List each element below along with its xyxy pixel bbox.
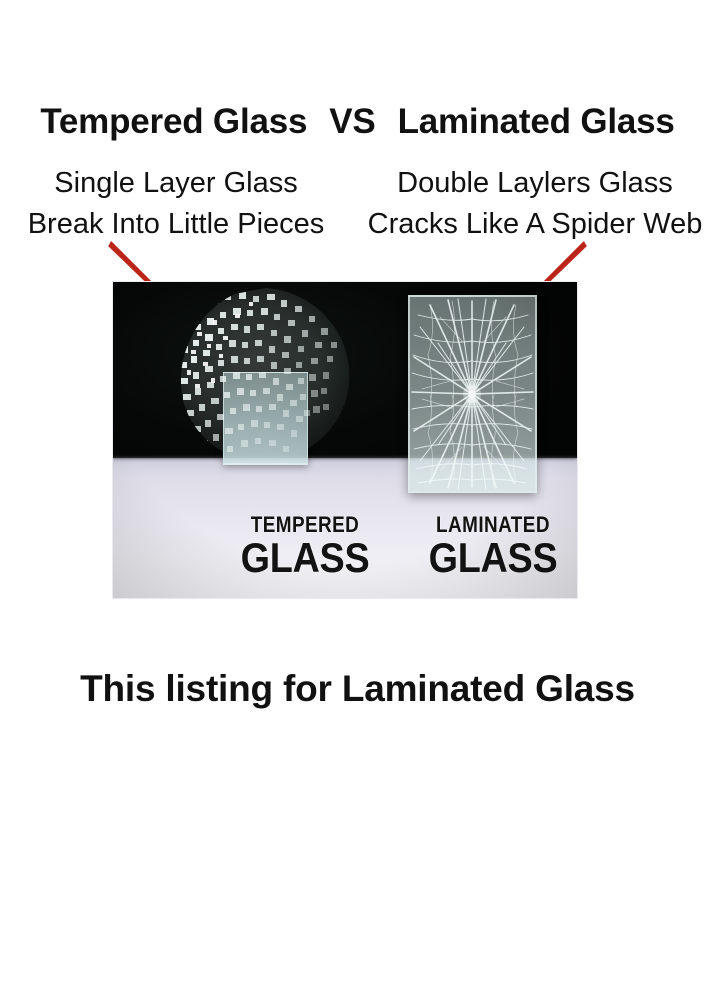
laminated-spiderweb-crack-pattern [410,297,535,491]
photo-label-tempered: TEMPERED GLASS [225,514,385,579]
photo-label-laminated: LAMINATED GLASS [413,514,573,579]
tempered-shatter-pattern [173,284,358,469]
headline-comparison-title: Tempered GlassVSLaminated Glass [0,102,715,142]
headline-right-product: Laminated Glass [398,102,675,142]
caption-tempered-line2: Break Into Little Pieces [6,204,346,245]
photo-label-tempered-bottom: GLASS [233,537,377,579]
laminated-glass-panel [408,295,537,493]
photo-label-laminated-bottom: GLASS [421,537,565,579]
caption-row: Single Layer Glass Break Into Little Pie… [0,163,715,243]
listing-note: This listing for Laminated Glass [0,668,715,710]
headline-left-product: Tempered Glass [40,102,307,142]
headline-vs-separator: VS [329,102,375,142]
photo-label-tempered-top: TEMPERED [236,514,374,536]
caption-laminated-line2: Cracks Like A Spider Web [355,204,715,245]
caption-column-laminated: Double Laylers Glass Cracks Like A Spide… [355,163,715,245]
photo-label-laminated-top: LAMINATED [424,514,562,536]
comparison-photo: TEMPERED GLASS LAMINATED GLASS [113,282,577,598]
caption-tempered-line1: Single Layer Glass [6,163,346,204]
caption-laminated-line1: Double Laylers Glass [355,163,715,204]
caption-column-tempered: Single Layer Glass Break Into Little Pie… [6,163,346,245]
